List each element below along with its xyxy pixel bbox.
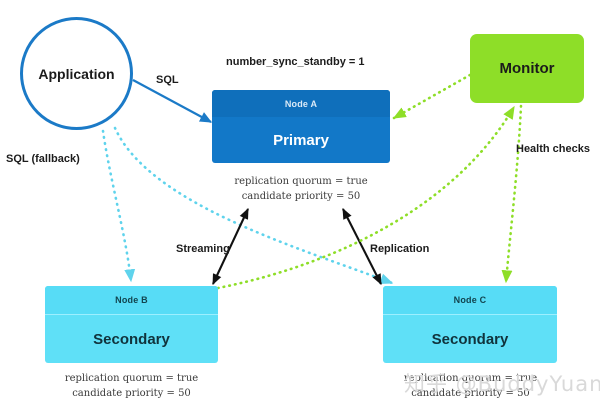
edge-sql-app-to-primary [133,80,211,122]
application-node[interactable]: Application [20,17,133,130]
number-sync-standby-label: number_sync_standby = 1 [226,56,364,68]
node-a-box[interactable]: Node A Primary [212,90,390,163]
node-b-name: Node B [45,286,218,315]
node-b-box[interactable]: Node B Secondary [45,286,218,363]
edge-health-monitor-to-primary [394,75,470,118]
monitor-node[interactable]: Monitor [470,34,584,103]
node-c-name: Node C [383,286,557,315]
streaming-edge-label: Streaming [176,243,230,255]
monitor-label: Monitor [500,60,555,77]
node-b-caption: replication quorum = true candidate prio… [44,372,219,401]
node-b-caption-line-1: replication quorum = true [44,372,219,387]
node-a-caption-line-2: candidate priority = 50 [212,190,390,205]
node-b-caption-line-2: candidate priority = 50 [44,387,219,402]
sql-edge-label: SQL [156,74,179,86]
watermark: 知乎 @BuddyYuan [404,368,600,398]
edge-sql-fallback-to-node-b [103,131,131,281]
diagram-canvas: Application Monitor Node A Primary repli… [0,0,600,411]
application-label: Application [38,66,114,82]
node-a-name: Node A [212,90,390,117]
node-b-role: Secondary [45,315,218,363]
node-c-box[interactable]: Node C Secondary [383,286,557,363]
node-a-caption: replication quorum = true candidate prio… [212,175,390,204]
node-c-role: Secondary [383,315,557,363]
node-a-caption-line-1: replication quorum = true [212,175,390,190]
replication-edge-label: Replication [370,243,429,255]
sql-fallback-edge-label: SQL (fallback) [6,153,80,165]
node-a-role: Primary [212,117,390,163]
edge-health-monitor-to-node-c [506,106,521,282]
health-checks-edge-label: Health checks [516,143,590,155]
